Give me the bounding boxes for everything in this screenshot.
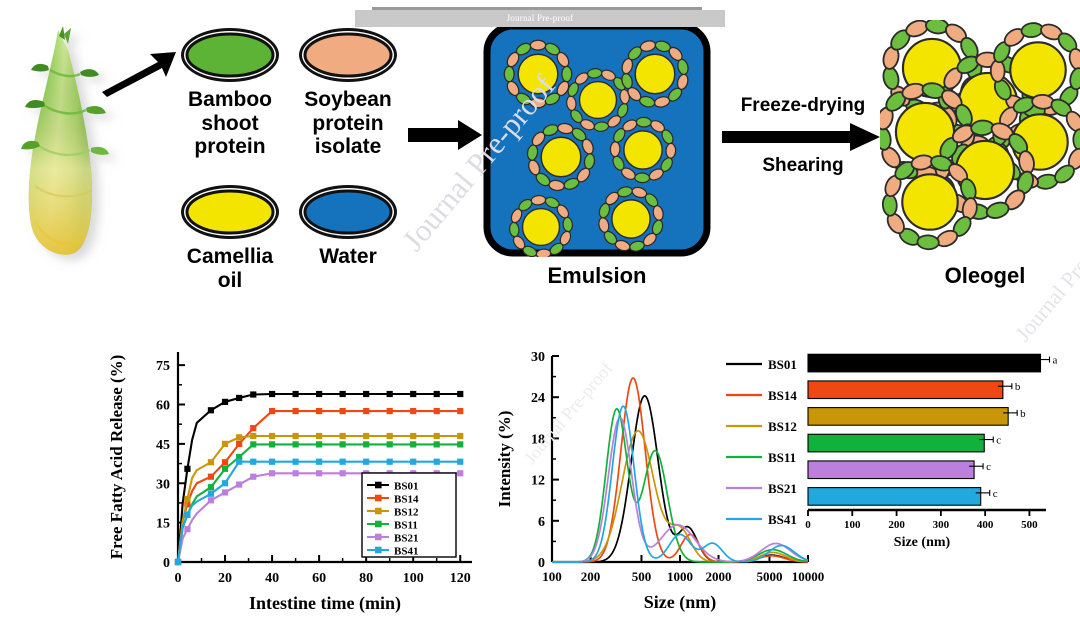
data-point (222, 480, 228, 486)
data-point (236, 459, 242, 465)
data-point (175, 559, 181, 565)
ingredient-camellia-oil: Camellia oil (170, 185, 290, 292)
ingredient-label-line1: Bamboo (170, 88, 290, 112)
data-point (250, 441, 256, 447)
legend-label-BS14: BS14 (768, 388, 797, 403)
peach-ellipse-icon (299, 28, 397, 82)
ingredient-label-line1: Camellia (170, 245, 290, 269)
bar-BS01 (808, 354, 1041, 372)
ingredient-water: Water (288, 185, 408, 269)
data-point (293, 408, 299, 414)
legend-label-BS41: BS41 (394, 545, 418, 557)
data-point (410, 459, 416, 465)
data-point (434, 408, 440, 414)
bar-x-axis-label: Size (nm) (894, 535, 951, 550)
data-point (208, 484, 214, 490)
particle-size-distribution-chart: 061218243010020050010002000500010000Size… (490, 330, 1080, 622)
data-point (222, 399, 228, 405)
oleogel-cluster (880, 20, 1080, 260)
x-tick-label: 20 (218, 571, 232, 586)
legend-label-BS21: BS21 (768, 481, 797, 496)
journal-preproof-banner: Journal Pre-proof (355, 10, 725, 27)
bar-BS12 (808, 408, 1008, 426)
bar-annotation-BS01: a (1053, 355, 1058, 367)
data-point (316, 470, 322, 476)
data-point (363, 433, 369, 439)
data-point (293, 391, 299, 397)
y-tick-label: 0 (163, 556, 170, 571)
x-tick-label: 200 (581, 569, 601, 584)
data-point (250, 474, 256, 480)
data-point (184, 496, 190, 502)
data-point (363, 441, 369, 447)
ingredient-bamboo-shoot-protein: Bamboo shoot protein (170, 28, 290, 159)
data-point (387, 433, 393, 439)
data-point (457, 391, 463, 397)
mean-size-bar-chart: abbccc0100200300400500Size (nm) (805, 354, 1057, 550)
ingredient-label-line3: protein (170, 135, 290, 159)
y-tick-label: 24 (531, 391, 545, 406)
ingredient-label-line2: protein (288, 112, 408, 136)
y-tick-label: 12 (531, 474, 545, 489)
data-point (457, 459, 463, 465)
y-tick-label: 75 (156, 359, 170, 374)
data-point (434, 391, 440, 397)
data-point (316, 459, 322, 465)
data-point (363, 391, 369, 397)
data-point (340, 433, 346, 439)
data-point (208, 407, 214, 413)
x-axis-label: Size (nm) (644, 592, 716, 613)
emulsion-label: Emulsion (483, 263, 711, 289)
journal-preproof-banner-text: Journal Pre-proof (355, 10, 725, 27)
data-point (457, 441, 463, 447)
y-axis-label: Free Fatty Acid Release (%) (107, 355, 126, 560)
data-point (434, 441, 440, 447)
yellow-ellipse-icon (181, 185, 279, 239)
x-axis-label: Intestine time (min) (249, 593, 401, 614)
data-point (457, 433, 463, 439)
data-point (269, 441, 275, 447)
data-point (340, 470, 346, 476)
y-tick-label: 15 (156, 517, 170, 532)
data-point (457, 408, 463, 414)
bar-annotation-BS12: b (1020, 408, 1026, 420)
ingredient-label-line3: isolate (288, 135, 408, 159)
process-label-shearing: Shearing (718, 155, 888, 177)
arrow-right-icon-2 (408, 118, 484, 152)
data-point (340, 391, 346, 397)
x-tick-label: 100 (542, 569, 562, 584)
data-point (208, 497, 214, 503)
data-point (250, 433, 256, 439)
data-point (222, 441, 228, 447)
emulsion-container (483, 22, 711, 257)
data-point (236, 481, 242, 487)
data-point (316, 391, 322, 397)
x-tick-label: 40 (265, 571, 279, 586)
data-point (208, 459, 214, 465)
data-point (410, 391, 416, 397)
data-point (269, 459, 275, 465)
x-tick-label: 5000 (756, 569, 782, 584)
data-point (269, 391, 275, 397)
data-point (184, 512, 190, 518)
data-point (236, 434, 242, 440)
data-point (250, 391, 256, 397)
blue-ellipse-icon (299, 185, 397, 239)
legend-label-BS21: BS21 (394, 532, 418, 544)
legend-label-BS01: BS01 (394, 480, 418, 492)
ingredient-label-line2: oil (170, 269, 290, 293)
legend-label-BS41: BS41 (768, 512, 797, 527)
data-point (363, 408, 369, 414)
bar-annotation-BS14: b (1015, 381, 1021, 393)
y-tick-label: 6 (538, 515, 545, 530)
data-point (316, 441, 322, 447)
data-point (184, 526, 190, 532)
legend-label-BS12: BS12 (768, 419, 797, 434)
data-point (208, 491, 214, 497)
data-point (222, 489, 228, 495)
data-point (293, 433, 299, 439)
data-point (250, 459, 256, 465)
y-axis-label: Intensity (%) (495, 411, 514, 508)
bar-x-tick-label: 500 (1021, 519, 1038, 531)
x-tick-label: 10000 (792, 569, 825, 584)
data-point (387, 441, 393, 447)
arrow-right-icon-3 (722, 122, 882, 152)
data-point (457, 470, 463, 476)
legend-label-BS14: BS14 (394, 493, 419, 505)
x-tick-label: 500 (632, 569, 652, 584)
data-point (316, 433, 322, 439)
bar-x-tick-label: 200 (888, 519, 905, 531)
data-point (208, 474, 214, 480)
ingredient-label-line1: Soybean (288, 88, 408, 112)
x-tick-label: 60 (312, 571, 326, 586)
bar-annotation-BS41: c (993, 488, 998, 500)
x-tick-label: 100 (403, 571, 424, 586)
green-ellipse-icon (181, 28, 279, 82)
bar-BS41 (808, 488, 981, 506)
process-label-freeze-drying: Freeze-drying (718, 95, 888, 117)
legend-label-BS12: BS12 (394, 506, 419, 518)
data-point (434, 459, 440, 465)
bar-BS21 (808, 461, 974, 479)
oleogel-label: Oleogel (890, 263, 1080, 289)
x-tick-label: 0 (175, 571, 182, 586)
legend-label-BS01: BS01 (768, 357, 797, 372)
bar-annotation-BS21: c (986, 461, 991, 473)
ingredient-label-line1: Water (288, 245, 408, 269)
bar-x-tick-label: 300 (933, 519, 950, 531)
bar-x-tick-label: 0 (805, 519, 811, 531)
y-tick-label: 18 (531, 432, 545, 447)
bar-annotation-BS11: c (996, 435, 1001, 447)
data-point (410, 408, 416, 414)
ingredient-soybean-protein-isolate: Soybean protein isolate (288, 28, 408, 159)
y-tick-label: 30 (156, 477, 170, 492)
y-tick-label: 45 (156, 438, 170, 453)
y-tick-label: 30 (531, 350, 545, 365)
bar-x-tick-label: 100 (844, 519, 861, 531)
data-point (434, 433, 440, 439)
data-point (387, 391, 393, 397)
graphical-abstract: Journal Pre-proof Journal Pre-proof Jour… (0, 0, 1080, 626)
data-point (293, 459, 299, 465)
data-point (184, 466, 190, 472)
ffa-release-chart: 01530456075020406080100120Intestine time… (100, 330, 490, 622)
data-point (340, 441, 346, 447)
data-point (236, 395, 242, 401)
x-tick-label: 1000 (667, 569, 693, 584)
legend-label-BS11: BS11 (768, 450, 796, 465)
data-point (293, 470, 299, 476)
data-point (269, 433, 275, 439)
bar-BS11 (808, 434, 984, 452)
x-tick-label: 120 (450, 571, 471, 586)
data-point (293, 441, 299, 447)
data-point (269, 408, 275, 414)
legend-label-BS11: BS11 (394, 519, 418, 531)
data-point (316, 408, 322, 414)
data-point (410, 433, 416, 439)
data-point (340, 459, 346, 465)
data-point (387, 408, 393, 414)
data-point (363, 459, 369, 465)
data-point (269, 470, 275, 476)
data-point (222, 459, 228, 465)
data-point (410, 441, 416, 447)
arrow-right-icon-1 (100, 48, 178, 98)
ingredient-label-line2: shoot (170, 112, 290, 136)
x-tick-label: 2000 (706, 569, 732, 584)
data-point (387, 459, 393, 465)
data-point (250, 425, 256, 431)
data-point (222, 466, 228, 472)
x-tick-label: 80 (359, 571, 373, 586)
bar-BS14 (808, 381, 1003, 399)
data-point (236, 441, 242, 447)
y-tick-label: 60 (156, 399, 170, 414)
bar-x-tick-label: 400 (977, 519, 994, 531)
data-point (340, 408, 346, 414)
